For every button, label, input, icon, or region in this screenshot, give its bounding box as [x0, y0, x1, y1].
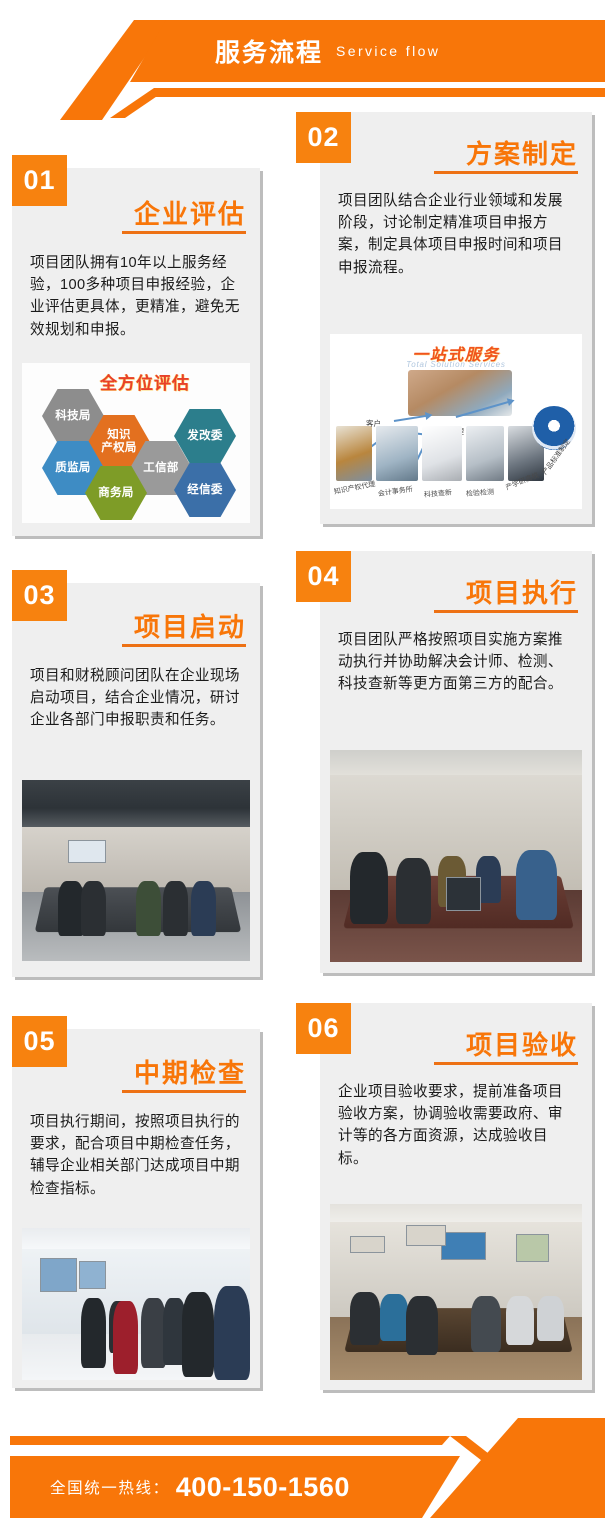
one-stop-service-graphic: 一站式服务 Total Solution Services 客户 项目经理 知识…	[330, 334, 582, 509]
card-title-rule-01	[122, 231, 246, 234]
service-thumb-research	[422, 426, 462, 481]
footer-topline	[10, 1436, 450, 1445]
service-thumb-accounting	[376, 426, 418, 481]
footer-banner: 全国统一热线： 400-150-1560	[0, 1400, 605, 1538]
step-badge-06: 06	[296, 1003, 351, 1054]
step-badge-03: 03	[12, 570, 67, 621]
header-title-group: 服务流程 Service flow	[215, 24, 595, 78]
step-card-02[interactable]: 方案制定 项目团队结合企业行业领域和发展阶段，讨论制定精准项目申报方案，制定具体…	[320, 112, 592, 524]
card-title-rule-04	[434, 610, 578, 613]
service-caption-4: 检验检测	[466, 487, 495, 499]
card-title-06: 项目验收	[466, 1025, 578, 1062]
step-card-03[interactable]: 项目启动 项目和财税顾问团队在企业现场启动项目，结合企业情况，研讨企业各部门申报…	[12, 583, 260, 977]
step-card-06[interactable]: 项目验收 企业项目验收要求，提前准备项目验收方案，协调验收需要政府、审计等的各方…	[320, 1003, 592, 1390]
card-title-rule-05	[122, 1090, 246, 1093]
step-badge-02: 02	[296, 112, 351, 163]
step-badge-01: 01	[12, 155, 67, 206]
header-banner: 服务流程 Service flow	[0, 0, 605, 118]
photo-showroom-visit	[22, 1228, 250, 1380]
hex-node-label: 科技局	[55, 410, 90, 423]
card-body-02: 项目团队结合企业行业领域和发展阶段，讨论制定精准项目申报方案，制定具体项目申报时…	[338, 190, 576, 279]
card-title-04: 项目执行	[466, 573, 578, 610]
hex-node-label-line1: 知识	[101, 429, 136, 442]
service-thumb-ip	[336, 426, 372, 481]
card-body-03: 项目和财税顾问团队在企业现场启动项目，结合企业情况，研讨企业各部门申报职责和任务…	[30, 665, 244, 732]
service-thumb-testing	[466, 426, 504, 481]
service-caption-1: 知识产权代理	[333, 479, 376, 497]
hex-node-label-line2: 产权局	[101, 442, 136, 455]
card-title-03: 项目启动	[134, 607, 246, 644]
service-caption-2: 会计事务所	[377, 484, 413, 499]
card-title-02: 方案制定	[466, 134, 578, 171]
header-underline	[150, 88, 605, 97]
header-title-cn: 服务流程	[215, 33, 323, 69]
footer-hotline-label: 全国统一热线：	[50, 1476, 170, 1498]
service-graphic-subtitle: Total Solution Services	[330, 360, 582, 369]
footer-hotline-group: 全国统一热线： 400-150-1560	[50, 1456, 350, 1518]
hex-node-label: 商务局	[98, 487, 133, 500]
photo-acceptance-meeting	[330, 1204, 582, 1380]
photo-meeting-laptops	[330, 750, 582, 962]
hex-diagram-title: 全方位评估	[100, 369, 190, 394]
hex-node-label: 质监局	[55, 462, 90, 475]
step-card-04[interactable]: 项目执行 项目团队严格按照项目实施方案推动执行并协助解决会计师、检测、科技查新等…	[320, 551, 592, 973]
card-title-rule-03	[122, 644, 246, 647]
card-body-05: 项目执行期间，按照项目执行的要求，配合项目中期检查任务，辅导企业相关部门达成项目…	[30, 1111, 244, 1200]
card-title-05: 中期检查	[134, 1053, 246, 1090]
card-title-rule-02	[434, 171, 578, 174]
step-card-01[interactable]: 企业评估 项目团队拥有10年以上服务经验，100多种项目申报经验，企业评估更具体…	[12, 168, 260, 536]
card-title-rule-06	[434, 1062, 578, 1065]
hex-node-label: 经信委	[187, 484, 222, 497]
header-title-en: Service flow	[336, 43, 440, 59]
card-body-06: 企业项目验收要求，提前准备项目验收方案，协调验收需要政府、审计等的各方面资源，达…	[338, 1081, 576, 1170]
hex-node-label: 工信部	[143, 462, 178, 475]
step-badge-05: 05	[12, 1016, 67, 1067]
photo-conference-room	[22, 780, 250, 961]
card-body-04: 项目团队严格按照项目实施方案推动执行并协助解决会计师、检测、科技查新等更方面第三…	[338, 629, 576, 696]
service-caption-3: 科技查新	[424, 488, 453, 500]
footer-wedge-decoration	[430, 1418, 605, 1518]
footer-hotline-number[interactable]: 400-150-1560	[176, 1472, 350, 1503]
step-badge-04: 04	[296, 551, 351, 602]
hex-diagram-01: 全方位评估 科技局 知识 产权局 发改委 质监局 工信部 商务局 经信委	[22, 363, 250, 523]
step-card-05[interactable]: 中期检查 项目执行期间，按照项目执行的要求，配合项目中期检查任务，辅导企业相关部…	[12, 1029, 260, 1388]
card-title-01: 企业评估	[134, 194, 246, 231]
hex-node-label: 发改委	[187, 430, 222, 443]
card-body-01: 项目团队拥有10年以上服务经验，100多种项目申报经验，企业评估更具体，更精准，…	[30, 252, 244, 341]
service-hero-photo	[408, 370, 512, 416]
